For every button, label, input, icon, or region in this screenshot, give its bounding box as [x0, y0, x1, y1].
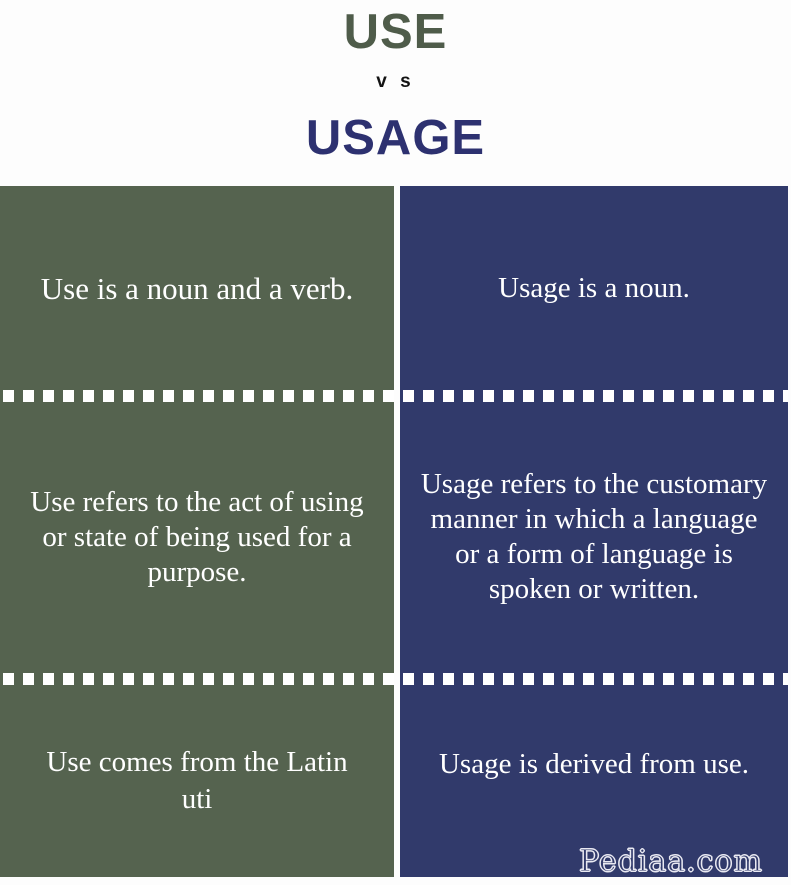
divider-right-2 — [403, 673, 788, 685]
page-title-use: USE — [0, 4, 791, 60]
usage-point-2-text: Usage refers to the customary manner in … — [400, 467, 788, 607]
infographic-root: USE v s USAGE Use is a noun and a verb. … — [0, 0, 791, 885]
use-point-2: Use refers to the act of using or state … — [0, 401, 394, 673]
usage-point-1: Usage is a noun. — [400, 186, 788, 390]
use-point-2-text: Use refers to the act of using or state … — [0, 485, 394, 590]
use-point-3: Use comes from the Latin uti — [0, 684, 394, 877]
comparison-column-use: Use is a noun and a verb. Use refers to … — [0, 186, 394, 877]
divider-left-2 — [3, 673, 394, 685]
use-point-1-text: Use is a noun and a verb. — [19, 268, 376, 309]
usage-point-1-text: Usage is a noun. — [478, 268, 710, 308]
divider-right-1 — [403, 390, 788, 402]
versus-separator: v s — [0, 70, 791, 94]
comparison-column-usage: Usage is a noun. Usage refers to the cus… — [400, 186, 788, 877]
usage-point-3-text: Usage is derived from use. — [417, 746, 771, 783]
header: USE v s USAGE — [0, 0, 791, 186]
use-point-3-text: Use comes from the Latin uti — [0, 744, 394, 818]
watermark-pediaa: Pediaa.com — [579, 844, 763, 879]
divider-left-1 — [3, 390, 394, 402]
usage-point-2: Usage refers to the customary manner in … — [400, 401, 788, 673]
use-point-1: Use is a noun and a verb. — [0, 186, 394, 390]
page-title-usage: USAGE — [0, 110, 791, 166]
